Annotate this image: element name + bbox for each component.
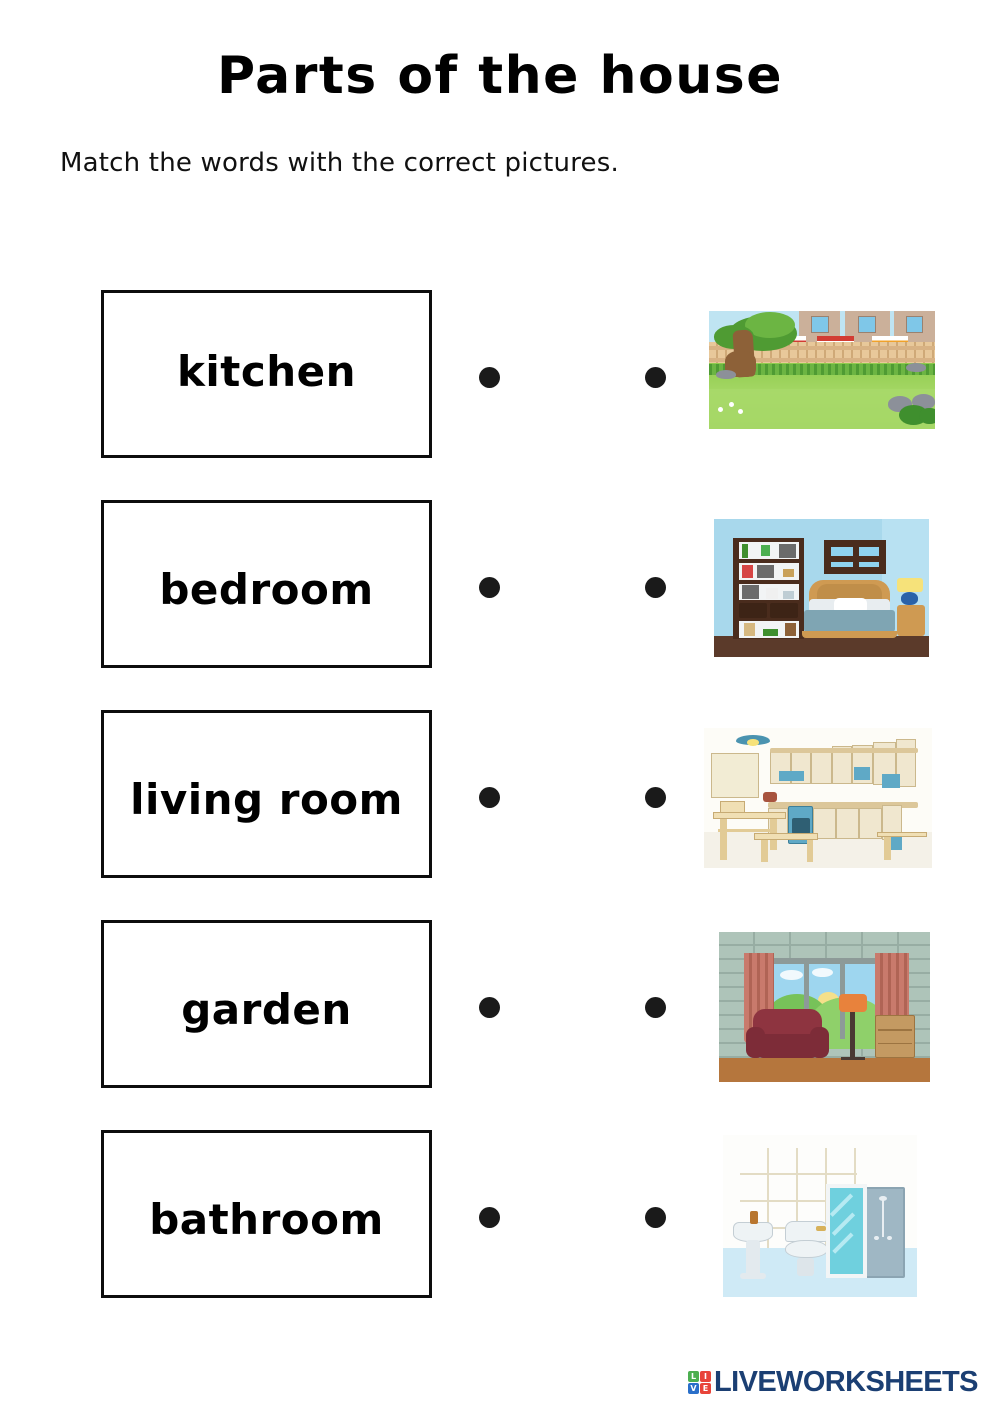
match-row: garden xyxy=(0,920,1000,1092)
upper-cabinet xyxy=(811,748,832,784)
books xyxy=(742,565,753,579)
window-blind xyxy=(711,753,759,798)
bathroom-picture[interactable] xyxy=(723,1135,917,1297)
match-grid: kitchen xyxy=(0,290,1000,1340)
flower xyxy=(718,407,723,412)
lamp-base xyxy=(901,592,918,604)
lamp-shade xyxy=(839,994,866,1012)
lamp-foot xyxy=(841,1057,864,1060)
match-row: living room xyxy=(0,710,1000,882)
shower-knob xyxy=(887,1236,892,1240)
bench-leg xyxy=(884,837,891,859)
page-title: Parts of the house xyxy=(0,48,1000,105)
cloud xyxy=(812,968,833,977)
word-label: bathroom xyxy=(104,1195,429,1244)
match-dot-left-4[interactable] xyxy=(479,997,500,1018)
nightstand xyxy=(897,605,925,637)
match-dot-left-5[interactable] xyxy=(479,1207,500,1228)
bed-base xyxy=(802,631,897,638)
match-row: bedroom xyxy=(0,500,1000,672)
word-box-living-room[interactable]: living room xyxy=(101,710,432,878)
drawer xyxy=(770,603,798,618)
word-box-bathroom[interactable]: bathroom xyxy=(101,1130,432,1298)
wall-panel xyxy=(882,774,900,788)
logo-blocks: L I V E xyxy=(688,1371,711,1394)
word-box-garden[interactable]: garden xyxy=(101,920,432,1088)
sink-pedestal xyxy=(746,1240,760,1277)
pot xyxy=(763,792,777,802)
toilet-pedestal xyxy=(797,1258,814,1276)
shower-pipe xyxy=(882,1199,884,1237)
sink-bowl xyxy=(733,1222,774,1241)
building-window xyxy=(858,316,876,333)
toilet-tank xyxy=(785,1221,828,1242)
shower-door xyxy=(826,1184,867,1278)
word-box-bedroom[interactable]: bedroom xyxy=(101,500,432,668)
window xyxy=(824,540,886,575)
match-dot-left-2[interactable] xyxy=(479,577,500,598)
building-window xyxy=(906,316,924,333)
garden-picture[interactable] xyxy=(709,311,935,429)
picture-frame xyxy=(766,588,779,599)
living-room-picture[interactable] xyxy=(719,932,930,1082)
logo-block-l: L xyxy=(688,1371,699,1382)
basket xyxy=(744,623,755,637)
jar xyxy=(783,591,794,599)
rock xyxy=(906,363,926,372)
logo-block-i: I xyxy=(700,1371,711,1382)
match-dot-right-4[interactable] xyxy=(645,997,666,1018)
match-row: bathroom xyxy=(0,1130,1000,1302)
instruction-text: Match the words with the correct picture… xyxy=(60,148,619,178)
cloud xyxy=(780,970,803,981)
vase xyxy=(783,569,794,577)
plant xyxy=(742,544,748,558)
logo-block-v: V xyxy=(688,1383,699,1394)
chair-back xyxy=(720,801,745,814)
books xyxy=(779,544,796,558)
kitchen-picture[interactable] xyxy=(704,728,932,868)
shower-cabin xyxy=(863,1187,906,1278)
floor xyxy=(714,636,929,657)
match-dot-left-3[interactable] xyxy=(479,787,500,808)
lamp-pole xyxy=(850,1012,855,1059)
bedroom-picture[interactable] xyxy=(714,519,929,657)
toilet-bowl xyxy=(785,1240,828,1258)
armchair-seat xyxy=(757,1034,818,1058)
books xyxy=(757,565,774,579)
box xyxy=(763,629,778,636)
lamp-shade xyxy=(897,578,923,592)
lower-cabinet xyxy=(836,808,859,839)
bench-leg xyxy=(807,840,814,862)
range-hood xyxy=(779,771,804,781)
sink-faucet xyxy=(750,1211,758,1224)
liveworksheets-logo[interactable]: L I V E LIVEWORKSHEETS xyxy=(688,1368,978,1397)
word-box-kitchen[interactable]: kitchen xyxy=(101,290,432,458)
table-leg xyxy=(720,819,727,860)
match-dot-left-1[interactable] xyxy=(479,367,500,388)
floor xyxy=(719,1058,930,1082)
chest-of-drawers xyxy=(875,1015,915,1059)
drawer xyxy=(739,603,767,618)
match-dot-right-2[interactable] xyxy=(645,577,666,598)
logo-wordmark: LIVEWORKSHEETS xyxy=(714,1368,978,1397)
rock xyxy=(716,370,736,379)
lamp-bulb xyxy=(747,739,758,746)
armchair-arm xyxy=(746,1027,765,1059)
sink-foot xyxy=(740,1273,765,1279)
toilet-flush xyxy=(816,1226,826,1231)
match-dot-right-1[interactable] xyxy=(645,367,666,388)
logo-block-e: E xyxy=(700,1383,711,1394)
bench xyxy=(754,833,818,840)
box xyxy=(785,623,796,637)
plant xyxy=(761,545,770,556)
table-brace xyxy=(718,829,777,832)
blanket xyxy=(804,610,894,632)
bush xyxy=(919,408,935,425)
bench-leg xyxy=(761,840,768,862)
match-row: kitchen xyxy=(0,290,1000,462)
shower-knob xyxy=(874,1236,879,1240)
match-dot-right-3[interactable] xyxy=(645,787,666,808)
word-label: bedroom xyxy=(104,565,429,614)
word-label: living room xyxy=(104,775,429,824)
building-window xyxy=(811,316,829,333)
word-label: kitchen xyxy=(104,347,429,396)
match-dot-right-5[interactable] xyxy=(645,1207,666,1228)
word-label: garden xyxy=(104,985,429,1034)
armchair-arm xyxy=(810,1027,829,1059)
books xyxy=(742,585,759,599)
wall-oven xyxy=(854,767,870,780)
upper-trim xyxy=(770,748,918,754)
